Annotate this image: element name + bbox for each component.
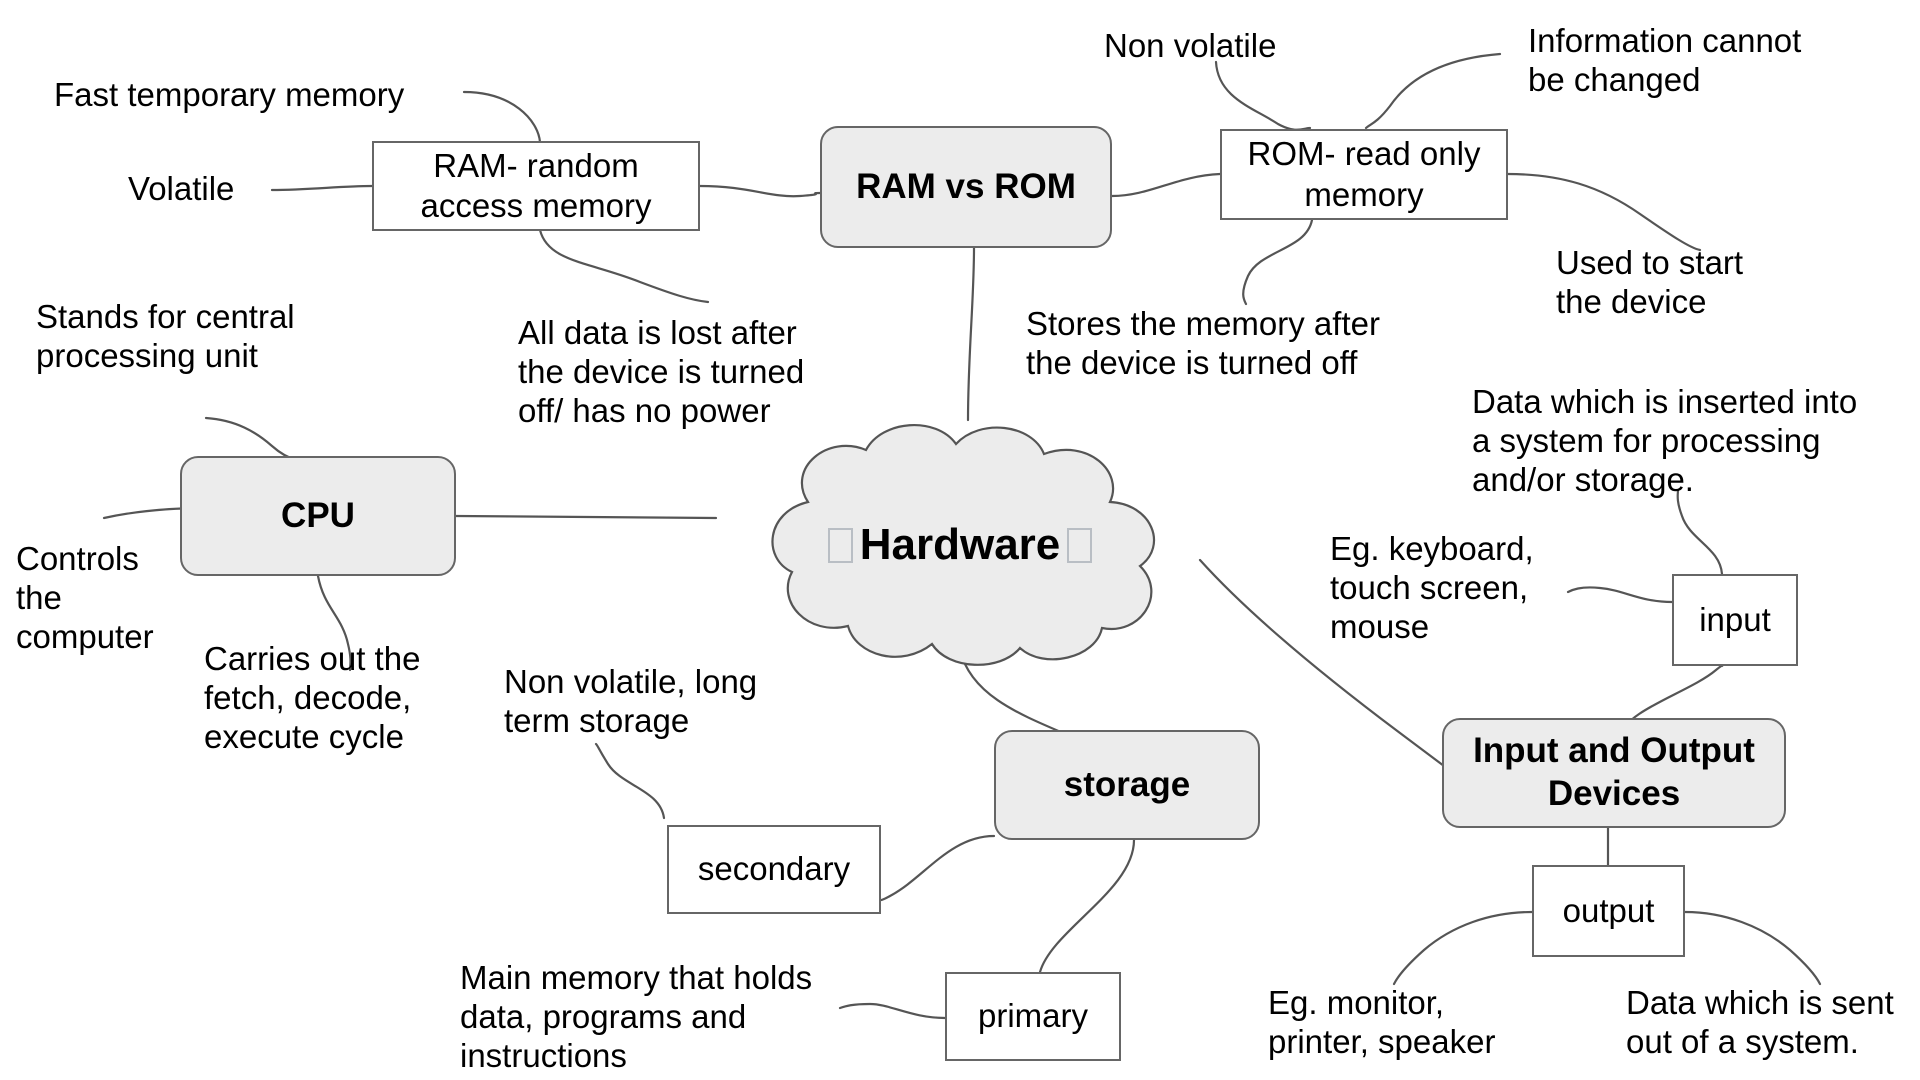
- edge-cpu-hardware: [456, 516, 716, 518]
- node-secondary[interactable]: secondary: [667, 825, 881, 914]
- edge-infocannot-rom: [1366, 54, 1500, 128]
- missing-glyph-left-icon: [828, 528, 853, 563]
- node-io-devices[interactable]: Input and Output Devices: [1442, 718, 1786, 828]
- edge-fast-temp-ram: [464, 92, 540, 142]
- hardware-label: Hardware: [700, 420, 1220, 670]
- note-eg-monitor: Eg. monitor, printer, speaker: [1268, 984, 1495, 1062]
- edge-volatile-ram: [272, 186, 372, 190]
- note-all-data-is-lost: All data is lost after the device is tur…: [518, 314, 804, 431]
- edge-ram-ramvsrom: [700, 186, 820, 196]
- edge-storage-secondary: [879, 836, 994, 900]
- note-non-volatile: Non volatile: [1104, 27, 1276, 66]
- edge-ramvsrom-rom: [1112, 174, 1220, 196]
- note-used-to-start-the-device: Used to start the device: [1556, 244, 1743, 322]
- note-fast-temporary-memory: Fast temporary memory: [54, 76, 404, 115]
- edge-rom-stores: [1243, 220, 1312, 304]
- edge-primary-mainmem: [840, 1004, 945, 1018]
- note-stores-the-memory-after: Stores the memory after the device is tu…: [1026, 305, 1380, 383]
- node-rom[interactable]: ROM- read only memory: [1220, 129, 1508, 220]
- edge-input-datainserted: [1678, 490, 1722, 574]
- node-storage[interactable]: storage: [994, 730, 1260, 840]
- edge-secondary-nonvol: [596, 744, 664, 818]
- edge-output-datasent: [1685, 912, 1820, 984]
- note-controls-the-computer: Controls the computer: [16, 540, 154, 657]
- edge-ram-alldatalost: [540, 230, 708, 302]
- note-eg-keyboard: Eg. keyboard, touch screen, mouse: [1330, 530, 1534, 647]
- edge-input-egkeyboard: [1568, 587, 1672, 602]
- edge-output-egmonitor: [1394, 912, 1532, 984]
- node-output[interactable]: output: [1532, 865, 1685, 957]
- note-volatile: Volatile: [128, 170, 234, 209]
- edge-ramvsrom-hardware: [968, 248, 974, 420]
- note-data-which-is-sent: Data which is sent out of a system.: [1626, 984, 1894, 1062]
- edge-rom-usedtostart: [1508, 174, 1700, 250]
- mindmap-canvas: Fast temporary memory Volatile Non volat…: [0, 0, 1920, 1080]
- note-non-volatile-long-term: Non volatile, long term storage: [504, 663, 757, 741]
- node-ram[interactable]: RAM- random access memory: [372, 141, 700, 231]
- node-input[interactable]: input: [1672, 574, 1798, 666]
- edge-nonvolatile-rom: [1216, 62, 1310, 130]
- note-carries-out-the-cycle: Carries out the fetch, decode, execute c…: [204, 640, 420, 757]
- node-hardware[interactable]: Hardware: [700, 420, 1220, 670]
- note-stands-for-central: Stands for central processing unit: [36, 298, 295, 376]
- hardware-label-text: Hardware: [860, 520, 1061, 570]
- node-ram-vs-rom[interactable]: RAM vs ROM: [820, 126, 1112, 248]
- note-main-memory-that-holds: Main memory that holds data, programs an…: [460, 959, 812, 1076]
- node-primary[interactable]: primary: [945, 972, 1121, 1061]
- note-data-which-is-inserted: Data which is inserted into a system for…: [1472, 383, 1857, 500]
- edge-storage-primary: [1040, 840, 1134, 972]
- node-cpu[interactable]: CPU: [180, 456, 456, 576]
- note-information-cannot-be-changed: Information cannot be changed: [1528, 22, 1801, 100]
- missing-glyph-right-icon: [1067, 528, 1092, 563]
